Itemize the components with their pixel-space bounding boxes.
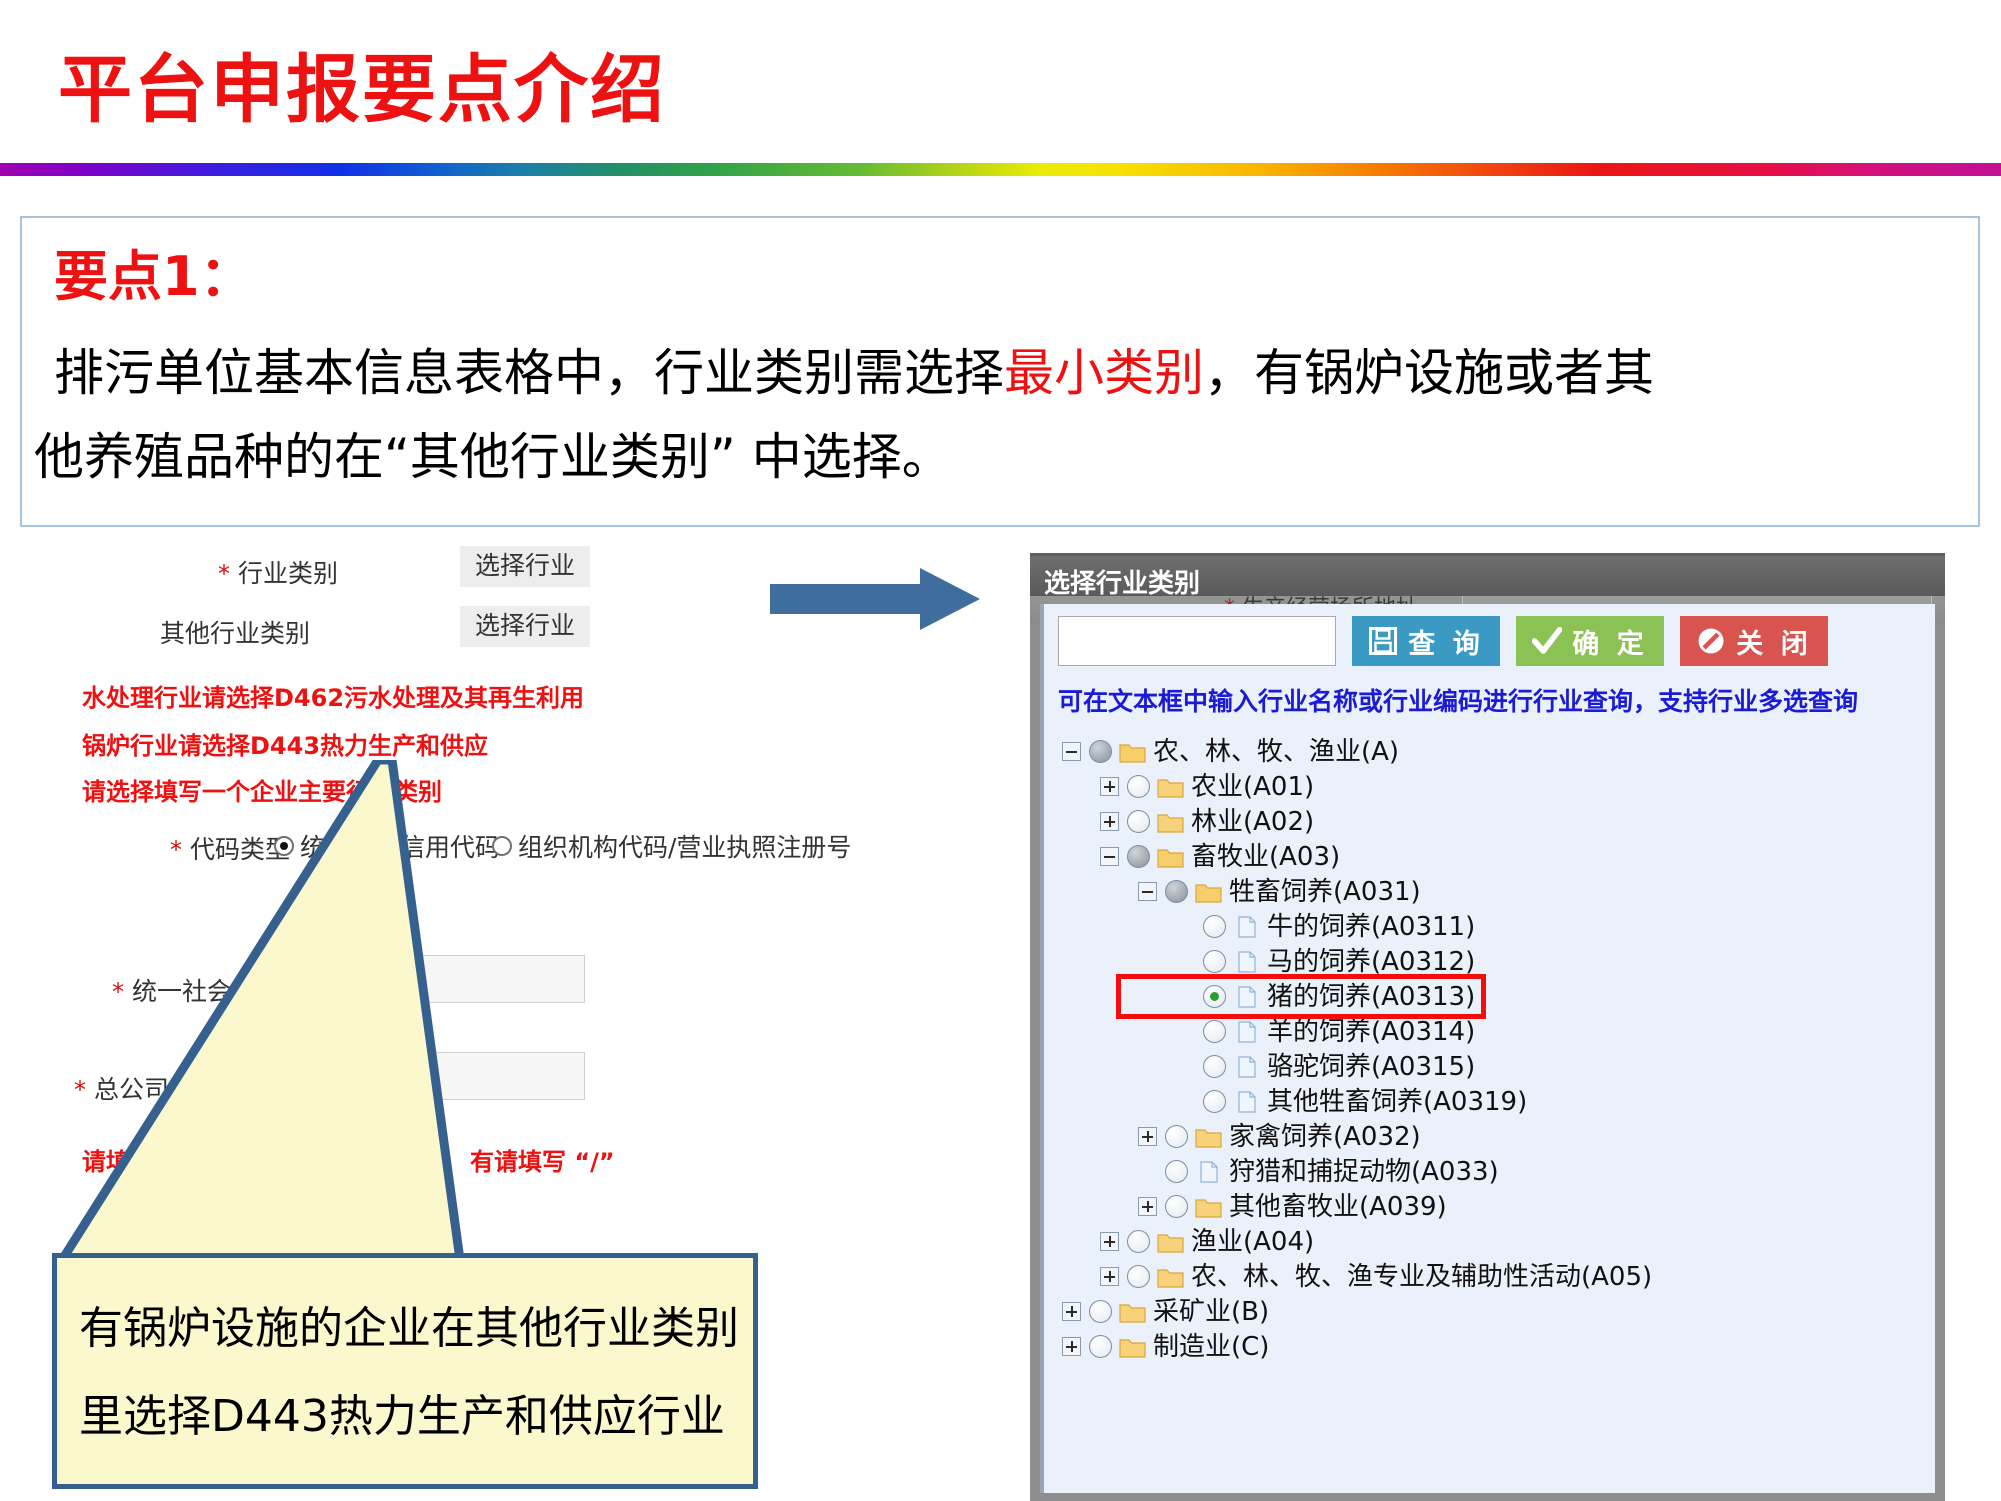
file-icon <box>1233 1056 1260 1078</box>
field-label-other-industry: 其他行业类别 <box>160 614 310 650</box>
tree-spacer <box>1176 952 1195 971</box>
tree-node-label: 羊的饲养(A0314) <box>1267 1019 1475 1045</box>
expand-icon[interactable] <box>1100 777 1119 796</box>
expand-icon[interactable] <box>1100 1267 1119 1286</box>
field-label-credit-code-text: 统一社会信用代码 <box>132 977 332 1006</box>
dialog-hint-text: 可在文本框中输入行业名称或行业编码进行行业查询，支持行业多选查询 <box>1058 682 1858 718</box>
tree-node[interactable]: 农业(A01) <box>1062 769 1932 804</box>
file-icon <box>1233 986 1260 1008</box>
radio-option-credit-code-label: 统一社会信用代码 <box>300 828 500 864</box>
collapse-icon[interactable] <box>1100 847 1119 866</box>
dialog-titlebar: 选择行业类别 <box>1030 556 1945 596</box>
field-label-other-industry-text: 其他行业类别 <box>160 619 310 648</box>
industry-search-input[interactable] <box>1058 616 1336 666</box>
tree-radio-icon[interactable] <box>1127 775 1150 798</box>
tree-radio-icon[interactable] <box>1127 1265 1150 1288</box>
tree-node[interactable]: 牛的饲养(A0311) <box>1062 909 1932 944</box>
select-industry-button[interactable]: 选择行业 <box>460 546 590 587</box>
form-screenshot-left: * 行业类别 选择行业 其他行业类别 选择行业 水处理行业请选择D462污水处理… <box>60 540 800 1240</box>
field-label-code-type: * 代码类型 <box>170 830 290 866</box>
tree-node[interactable]: 牲畜饲养(A031) <box>1062 874 1932 909</box>
tree-node-label: 农、林、牧、渔业(A) <box>1153 739 1399 765</box>
note-one-main-industry: 请选择填写一个企业主要行业类别 <box>82 772 442 807</box>
tree-radio-icon[interactable] <box>1127 810 1150 833</box>
expand-icon[interactable] <box>1062 1302 1081 1321</box>
description-line-1: 排污单位基本信息表格中，行业类别需选择最小类别，有锅炉设施或者其 <box>54 348 1654 398</box>
tree-node[interactable]: 马的饲养(A0312) <box>1062 944 1932 979</box>
collapse-icon[interactable] <box>1138 882 1157 901</box>
folder-icon <box>1119 1301 1146 1323</box>
required-star-icon: * <box>74 1076 86 1104</box>
credit-code-input[interactable] <box>380 955 585 1003</box>
tree-node[interactable]: 猪的饲养(A0313) <box>1062 979 1932 1014</box>
save-disk-icon <box>1368 626 1398 656</box>
description-line-2: 他养殖品种的在“其他行业类别” 中选择。 <box>34 432 952 482</box>
tree-node-label: 农业(A01) <box>1191 774 1314 800</box>
folder-icon <box>1157 1231 1184 1253</box>
tree-spacer <box>1176 1022 1195 1041</box>
tree-node[interactable]: 林业(A02) <box>1062 804 1932 839</box>
tree-node-label: 其他牲畜饲养(A0319) <box>1267 1089 1527 1115</box>
tree-spacer <box>1176 987 1195 1006</box>
expand-icon[interactable] <box>1100 1232 1119 1251</box>
tree-radio-icon[interactable] <box>1165 880 1188 903</box>
tree-node-label: 狩猎和捕捉动物(A033) <box>1229 1159 1499 1185</box>
flow-arrow-icon <box>770 568 980 630</box>
tree-radio-icon[interactable] <box>1089 1300 1112 1323</box>
required-star-icon: * <box>218 560 230 588</box>
industry-dialog-screenshot: * 生产经营场所地址 选择行业类别 查 询 确 定 <box>1030 553 1945 1501</box>
folder-icon <box>1157 811 1184 833</box>
query-button-label: 查 询 <box>1408 622 1483 661</box>
screenshot-bottom-edge <box>1030 1493 1945 1501</box>
tree-node-label: 牛的饲养(A0311) <box>1267 914 1475 940</box>
expand-icon[interactable] <box>1138 1127 1157 1146</box>
folder-icon <box>1157 776 1184 798</box>
tree-node[interactable]: 渔业(A04) <box>1062 1224 1932 1259</box>
radio-option-org-code[interactable]: 组织机构代码/营业执照注册号 <box>492 828 851 864</box>
collapse-icon[interactable] <box>1062 742 1081 761</box>
confirm-button-label: 确 定 <box>1572 622 1647 661</box>
tree-radio-icon[interactable] <box>1203 1055 1226 1078</box>
tree-node-label: 其他畜牧业(A039) <box>1229 1194 1447 1220</box>
tree-node[interactable]: 骆驼饲养(A0315) <box>1062 1049 1932 1084</box>
tree-node-label: 畜牧业(A03) <box>1191 844 1340 870</box>
hq-credit-code-input[interactable] <box>380 1052 585 1100</box>
tree-node-label: 林业(A02) <box>1191 809 1314 835</box>
tree-radio-icon[interactable] <box>1165 1195 1188 1218</box>
note-boiler: 锅炉行业请选择D443热力生产和供应 <box>82 726 488 761</box>
tree-radio-icon[interactable] <box>1089 740 1112 763</box>
note-hq-left: 请填写总公司统一 <box>82 1142 274 1177</box>
tree-radio-icon[interactable] <box>1203 1090 1226 1113</box>
tree-spacer <box>1176 1092 1195 1111</box>
radio-option-credit-code[interactable]: 统一社会信用代码 <box>274 828 500 864</box>
note-hq-right: 有请填写 “/” <box>470 1142 615 1177</box>
tree-node-label: 渔业(A04) <box>1191 1229 1314 1255</box>
close-button[interactable]: 关 闭 <box>1680 616 1828 666</box>
field-label-hq-credit-code-text: 总公司统一社会信用代码 <box>94 1075 369 1104</box>
tree-node-label: 家禽饲养(A032) <box>1229 1124 1421 1150</box>
description-heading: 要点1： <box>54 232 254 311</box>
tree-node[interactable]: 畜牧业(A03) <box>1062 839 1932 874</box>
folder-icon <box>1119 1336 1146 1358</box>
callout-box: 有锅炉设施的企业在其他行业类别 里选择D443热力生产和供应行业 <box>52 1253 758 1489</box>
tree-node[interactable]: 农、林、牧、渔专业及辅助性活动(A05) <box>1062 1259 1932 1294</box>
radio-button-icon[interactable] <box>492 836 512 856</box>
tree-radio-icon[interactable] <box>1203 985 1226 1008</box>
tree-node-label: 农、林、牧、渔专业及辅助性活动(A05) <box>1191 1264 1652 1290</box>
tree-node[interactable]: 其他畜牧业(A039) <box>1062 1189 1932 1224</box>
folder-open-icon <box>1119 741 1146 763</box>
tree-radio-icon[interactable] <box>1203 950 1226 973</box>
rainbow-divider <box>0 163 2001 176</box>
tree-node-label: 骆驼饲养(A0315) <box>1267 1054 1475 1080</box>
dialog-body: 查 询 确 定 关 闭 可在文本框中输入行业名称或行业编码进行行业查询，支持行业… <box>1040 604 1935 1501</box>
tree-node[interactable]: 采矿业(B) <box>1062 1294 1932 1329</box>
radio-button-icon[interactable] <box>274 836 294 856</box>
description-line-1-part-b: ，有锅炉设施或者其 <box>1204 344 1654 402</box>
tree-node[interactable]: 羊的饲养(A0314) <box>1062 1014 1932 1049</box>
folder-open-icon <box>1195 881 1222 903</box>
expand-icon[interactable] <box>1100 812 1119 831</box>
page-title: 平台申报要点介绍 <box>58 30 666 137</box>
tree-node[interactable]: 狩猎和捕捉动物(A033) <box>1062 1154 1932 1189</box>
forbidden-icon <box>1696 626 1726 656</box>
required-star-icon: * <box>170 836 182 864</box>
field-label-industry: * 行业类别 <box>218 554 338 590</box>
radio-option-org-code-label: 组织机构代码/营业执照注册号 <box>518 828 851 864</box>
field-label-industry-text: 行业类别 <box>238 559 338 588</box>
tree-node-label: 马的饲养(A0312) <box>1267 949 1475 975</box>
folder-open-icon <box>1157 846 1184 868</box>
field-label-hq-credit-code: * 总公司统一社会信用代码 <box>74 1070 369 1106</box>
query-button[interactable]: 查 询 <box>1352 616 1500 666</box>
industry-tree: 农、林、牧、渔业(A)农业(A01)林业(A02)畜牧业(A03)牲畜饲养(A0… <box>1062 734 1932 1364</box>
folder-icon <box>1195 1126 1222 1148</box>
tree-spacer <box>1176 1057 1195 1076</box>
folder-icon <box>1157 1266 1184 1288</box>
callout-line-2: 里选择D443热力生产和供应行业 <box>79 1380 725 1444</box>
tree-node[interactable]: 制造业(C) <box>1062 1329 1932 1364</box>
file-icon <box>1233 1091 1260 1113</box>
tree-node[interactable]: 农、林、牧、渔业(A) <box>1062 734 1932 769</box>
tree-node-label: 猪的饲养(A0313) <box>1267 984 1475 1010</box>
tree-node-label: 采矿业(B) <box>1153 1299 1269 1325</box>
field-label-credit-code: * 统一社会信用代码 <box>112 972 332 1008</box>
tree-radio-icon[interactable] <box>1127 1230 1150 1253</box>
tree-radio-icon[interactable] <box>1089 1335 1112 1358</box>
description-highlight: 最小类别 <box>1004 344 1204 402</box>
description-line-1-part-a: 排污单位基本信息表格中，行业类别需选择 <box>54 344 1004 402</box>
dialog-toolbar: 查 询 确 定 关 闭 <box>1058 616 1828 666</box>
tree-radio-icon[interactable] <box>1165 1160 1188 1183</box>
description-panel: 要点1： 排污单位基本信息表格中，行业类别需选择最小类别，有锅炉设施或者其 他养… <box>20 216 1980 527</box>
file-icon <box>1233 916 1260 938</box>
tree-radio-icon[interactable] <box>1127 845 1150 868</box>
expand-icon[interactable] <box>1138 1197 1157 1216</box>
tree-node-label: 牲畜饲养(A031) <box>1229 879 1421 905</box>
tree-node-label: 制造业(C) <box>1153 1334 1269 1360</box>
close-button-label: 关 闭 <box>1736 622 1811 661</box>
tree-node[interactable]: 家禽饲养(A032) <box>1062 1119 1932 1154</box>
tree-radio-icon[interactable] <box>1203 1020 1226 1043</box>
callout-line-1: 有锅炉设施的企业在其他行业类别 <box>79 1292 739 1356</box>
tree-radio-icon[interactable] <box>1203 915 1226 938</box>
check-icon <box>1532 626 1562 656</box>
file-icon <box>1233 1021 1260 1043</box>
select-other-industry-button[interactable]: 选择行业 <box>460 606 590 647</box>
dialog-title: 选择行业类别 <box>1044 563 1200 600</box>
file-icon <box>1195 1161 1222 1183</box>
tree-spacer <box>1176 917 1195 936</box>
folder-icon <box>1195 1196 1222 1218</box>
expand-icon[interactable] <box>1062 1337 1081 1356</box>
tree-radio-icon[interactable] <box>1165 1125 1188 1148</box>
confirm-button[interactable]: 确 定 <box>1516 616 1664 666</box>
required-star-icon: * <box>112 978 124 1006</box>
note-water-treatment: 水处理行业请选择D462污水处理及其再生利用 <box>82 678 584 713</box>
file-icon <box>1233 951 1260 973</box>
tree-spacer <box>1138 1162 1157 1181</box>
tree-node[interactable]: 其他牲畜饲养(A0319) <box>1062 1084 1932 1119</box>
